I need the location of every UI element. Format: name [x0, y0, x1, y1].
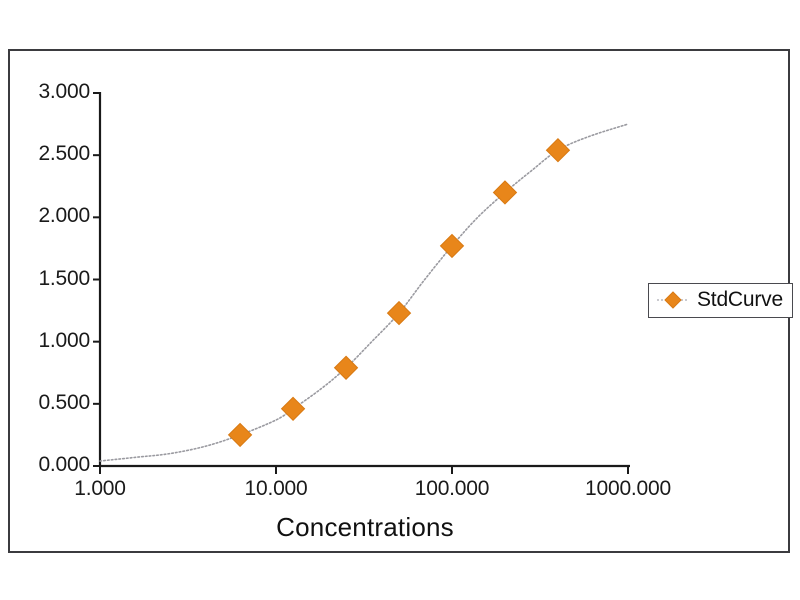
data-points	[229, 139, 570, 447]
x-tick-label: 1000.000	[558, 477, 698, 501]
y-tick-label: 0.000	[4, 453, 90, 477]
y-tick-label: 0.500	[4, 391, 90, 415]
chart-container: 0.0000.5001.0001.5002.0002.5003.000 1.00…	[0, 0, 800, 600]
fitted-curve	[100, 124, 628, 461]
x-tick-label: 1.000	[30, 477, 170, 501]
y-tick-label: 1.000	[4, 329, 90, 353]
y-tick-label: 2.500	[4, 142, 90, 166]
x-tick-label: 100.000	[382, 477, 522, 501]
x-axis-title: Concentrations	[100, 512, 630, 543]
legend-marker-stdcurve	[656, 290, 690, 310]
legend-label-stdcurve: StdCurve	[697, 288, 783, 312]
data-point-marker	[441, 234, 464, 257]
data-point-marker	[229, 423, 252, 446]
x-tick-label: 10.000	[206, 477, 346, 501]
data-point-marker	[546, 139, 569, 162]
y-tick-label: 2.000	[4, 204, 90, 228]
y-tick-label: 1.500	[4, 267, 90, 291]
legend[interactable]: StdCurve	[648, 283, 793, 318]
y-tick-label: 3.000	[4, 80, 90, 104]
data-point-marker	[282, 397, 305, 420]
